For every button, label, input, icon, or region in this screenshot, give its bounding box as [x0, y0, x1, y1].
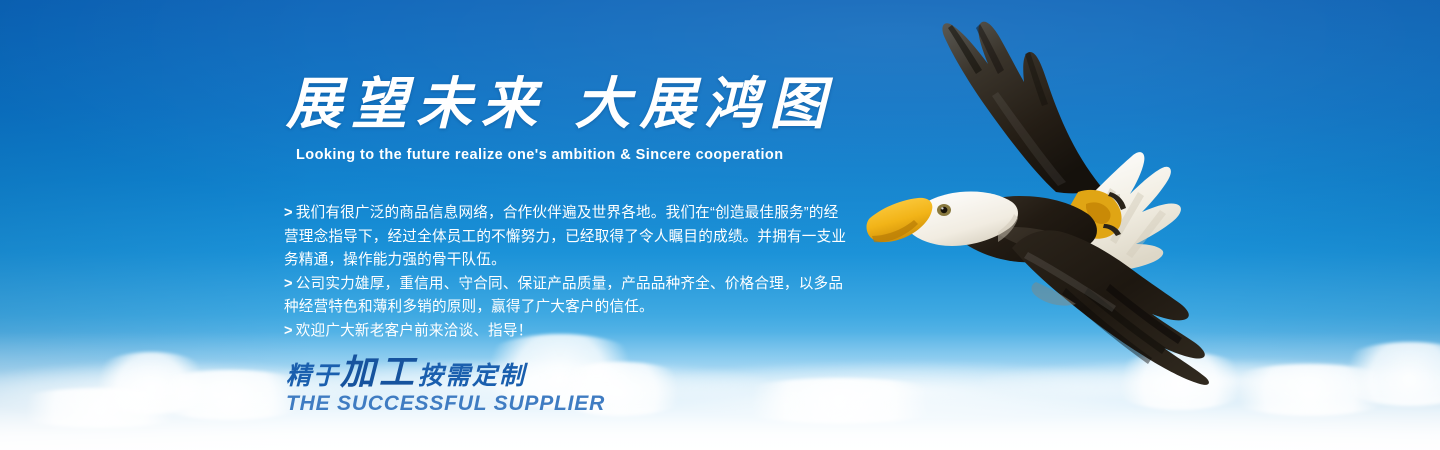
bullet-marker-2: >	[284, 276, 293, 292]
bullet-marker-1: >	[284, 205, 293, 221]
eagle-upper-wing	[942, 22, 1104, 194]
paragraph-text-1: 我们有很广泛的商品信息网络，合作伙伴遍及世界各地。我们在“创造最佳服务”的经营理…	[284, 205, 846, 268]
tagline-cn-suffix: 按需定制	[418, 361, 526, 390]
tagline-cn-emphasis: 加工	[340, 352, 418, 393]
eagle-head	[906, 191, 1019, 246]
tagline-chinese: 精于加工按需定制	[286, 358, 605, 391]
hero-banner: 展望未来 大展鸿图 Looking to the future realize …	[0, 0, 1440, 450]
tagline-english: THE SUCCESSFUL SUPPLIER	[286, 392, 605, 416]
footer-tagline: 精于加工按需定制 THE SUCCESSFUL SUPPLIER	[286, 358, 605, 416]
headline-subtitle: Looking to the future realize one's ambi…	[296, 147, 784, 163]
paragraph-3: >欢迎广大新老客户前来洽谈、指导！	[284, 320, 852, 344]
eagle-talons	[1070, 190, 1126, 239]
eagle-body	[951, 196, 1160, 308]
eagle-illustration	[848, 0, 1280, 400]
paragraph-1: >我们有很广泛的商品信息网络，合作伙伴遍及世界各地。我们在“创造最佳服务”的经营…	[284, 202, 852, 273]
eagle-beak	[867, 198, 933, 242]
paragraph-text-3: 欢迎广大新老客户前来洽谈、指导！	[296, 323, 533, 339]
bullet-marker-3: >	[284, 323, 293, 339]
eagle-eye	[937, 204, 951, 216]
page-headline: 展望未来 大展鸿图	[286, 76, 835, 132]
tagline-cn-prefix: 精于	[286, 361, 340, 390]
eagle-lower-wing	[1012, 230, 1209, 385]
eagle-tail	[1080, 152, 1181, 272]
paragraph-2: >公司实力雄厚，重信用、守合同、保证产品质量，产品品种齐全、价格合理，以多品种经…	[284, 273, 852, 320]
paragraph-text-2: 公司实力雄厚，重信用、守合同、保证产品质量，产品品种齐全、价格合理，以多品种经营…	[284, 276, 843, 316]
body-copy: >我们有很广泛的商品信息网络，合作伙伴遍及世界各地。我们在“创造最佳服务”的经营…	[284, 202, 852, 343]
cloud-band	[0, 332, 1440, 450]
